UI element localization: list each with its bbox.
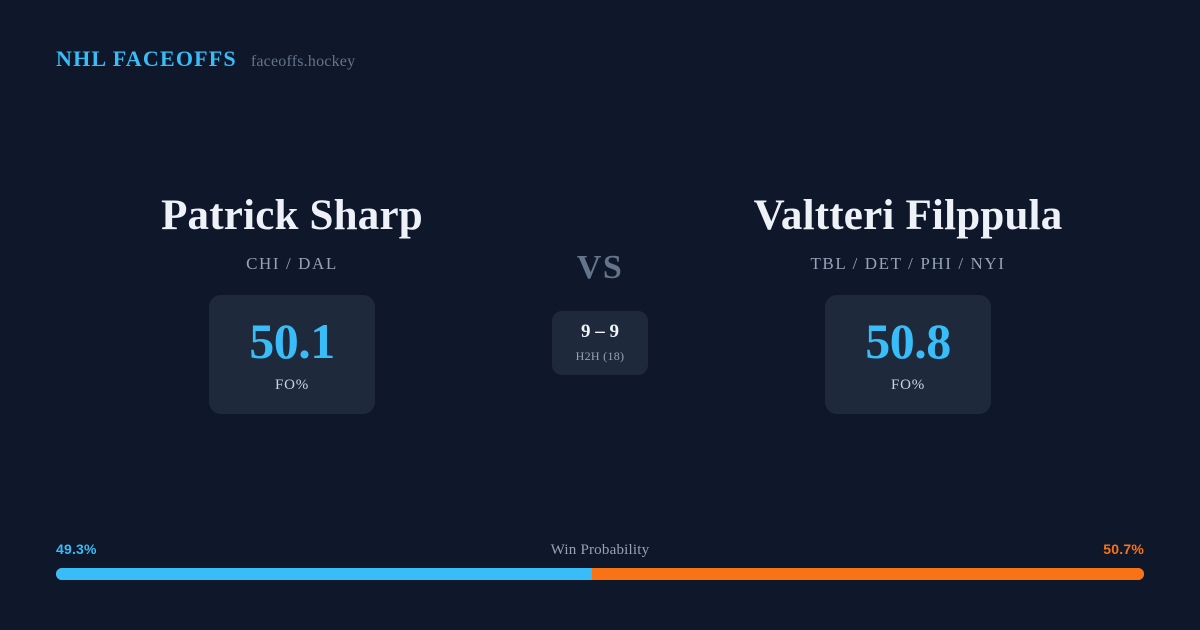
brand-domain: faceoffs.hockey <box>251 53 355 71</box>
player-left-stat-card: 50.1 FO% <box>209 295 375 414</box>
player-left: Patrick Sharp CHI / DAL 50.1 FO% <box>64 192 520 414</box>
win-probability-bar <box>56 568 1144 580</box>
player-right-stat-label: FO% <box>891 377 925 394</box>
player-right: Valtteri Filppula TBL / DET / PHI / NYI … <box>680 192 1136 414</box>
site-header: NHL FACEOFFS faceoffs.hockey <box>56 46 355 72</box>
win-probability-right-percent: 50.7% <box>1103 541 1144 557</box>
win-probability-title: Win Probability <box>551 542 650 559</box>
player-left-stat-value: 50.1 <box>249 316 335 366</box>
player-left-teams: CHI / DAL <box>246 254 338 274</box>
player-right-stat-card: 50.8 FO% <box>825 295 991 414</box>
player-left-stat-label: FO% <box>275 377 309 394</box>
win-probability-bar-left-fill <box>56 568 592 580</box>
player-right-teams: TBL / DET / PHI / NYI <box>810 254 1005 274</box>
brand-title: NHL FACEOFFS <box>56 46 237 72</box>
player-right-stat-value: 50.8 <box>865 316 951 366</box>
head-to-head-score: 9 – 9 <box>581 322 619 341</box>
head-to-head-badge: 9 – 9 H2H (18) <box>552 311 648 375</box>
win-probability-bar-right-fill <box>592 568 1144 580</box>
win-probability-section: 49.3% Win Probability 50.7% <box>56 541 1144 580</box>
win-probability-labels: 49.3% Win Probability 50.7% <box>56 541 1144 559</box>
head-to-head-label: H2H (18) <box>576 349 625 364</box>
player-left-name: Patrick Sharp <box>161 192 423 240</box>
win-probability-left-percent: 49.3% <box>56 541 97 557</box>
versus-column: VS 9 – 9 H2H (18) <box>520 192 680 375</box>
player-right-name: Valtteri Filppula <box>754 192 1063 240</box>
matchup-section: Patrick Sharp CHI / DAL 50.1 FO% VS 9 – … <box>0 192 1200 414</box>
versus-label: VS <box>577 251 623 285</box>
